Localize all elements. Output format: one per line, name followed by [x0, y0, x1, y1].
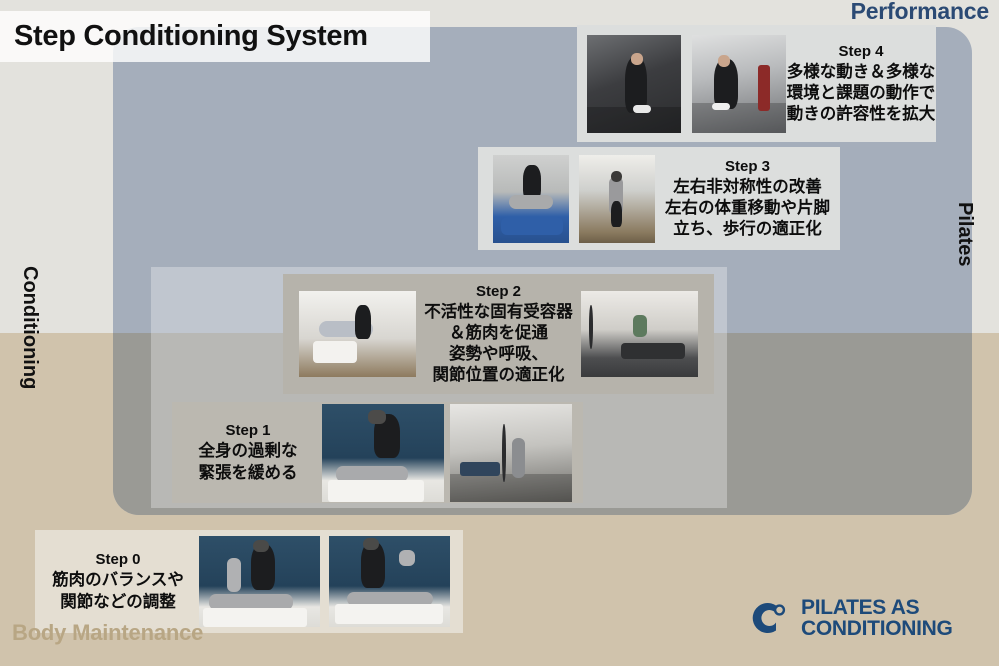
step0-name: Step 0 [37, 550, 199, 569]
step1-name: Step 1 [178, 421, 318, 440]
step3-desc-line-1: 左右非対称性の改善 [655, 177, 840, 198]
step0-desc-line-2: 関節などの調整 [37, 592, 199, 613]
step4-desc-line-3: 動きの許容性を拡大 [786, 104, 936, 125]
step3-desc-line-3: 立ち、歩行の適正化 [655, 219, 840, 240]
step2-name: Step 2 [416, 282, 581, 301]
step1-desc-line-1: 全身の過剰な [178, 441, 318, 462]
slide-title-bar: Step Conditioning System [0, 11, 430, 62]
brand-line-2: CONDITIONING [801, 618, 953, 639]
step2-desc-line-2: ＆筋肉を促通 [416, 323, 581, 344]
step-card-step4[interactable]: Step 4 多様な動き＆多様な 環境と課題の動作で 動きの許容性を拡大 [577, 25, 936, 142]
step4-name: Step 4 [786, 42, 936, 61]
step4-photo-2 [692, 35, 786, 133]
step2-text: Step 2 不活性な固有受容器 ＆筋肉を促通 姿勢や呼吸、 関節位置の適正化 [416, 282, 581, 387]
step0-photo-2 [329, 536, 450, 627]
step0-photo-1 [199, 536, 320, 627]
step2-photo-1 [299, 291, 416, 377]
axis-label-pilates: Pilates [953, 202, 976, 266]
step0-desc-line-1: 筋肉のバランスや [37, 570, 199, 591]
step3-text: Step 3 左右非対称性の改善 左右の体重移動や片脚 立ち、歩行の適正化 [655, 157, 840, 241]
slide-canvas: Step 4 多様な動き＆多様な 環境と課題の動作で 動きの許容性を拡大 Ste… [0, 0, 999, 666]
brand-line-1: PILATES AS [801, 597, 953, 618]
zone-label-performance: Performance [851, 0, 989, 25]
step-card-step2[interactable]: Step 2 不活性な固有受容器 ＆筋肉を促通 姿勢や呼吸、 関節位置の適正化 [283, 274, 714, 394]
axis-label-conditioning: Conditioning [18, 266, 41, 389]
step2-photo-2 [581, 291, 698, 377]
step4-desc-line-2: 環境と課題の動作で [786, 83, 936, 104]
step2-desc-line-1: 不活性な固有受容器 [416, 302, 581, 323]
step4-photo-1 [587, 35, 681, 133]
step4-desc-line-1: 多様な動き＆多様な [786, 62, 936, 83]
step-card-step0[interactable]: Step 0 筋肉のバランスや 関節などの調整 [35, 530, 463, 633]
step3-photo-2 [579, 155, 655, 243]
step3-desc-line-2: 左右の体重移動や片脚 [655, 198, 840, 219]
step3-name: Step 3 [655, 157, 840, 176]
step1-desc-line-2: 緊張を緩める [178, 463, 318, 484]
step2-desc-line-4: 関節位置の適正化 [416, 365, 581, 386]
step1-text: Step 1 全身の過剰な 緊張を緩める [178, 421, 318, 483]
step3-photo-1 [493, 155, 569, 243]
step4-text: Step 4 多様な動き＆多様な 環境と課題の動作で 動きの許容性を拡大 [786, 42, 936, 126]
step1-photo-1 [322, 404, 444, 502]
step0-text: Step 0 筋肉のバランスや 関節などの調整 [37, 550, 199, 612]
step3-photos [493, 155, 655, 243]
step1-photo-2 [450, 404, 572, 502]
step-card-step1[interactable]: Step 1 全身の過剰な 緊張を緩める [172, 402, 583, 503]
zone-label-body-maintenance: Body Maintenance [12, 620, 203, 646]
step4-photos [587, 35, 786, 133]
step-card-step3[interactable]: Step 3 左右非対称性の改善 左右の体重移動や片脚 立ち、歩行の適正化 [478, 147, 840, 250]
pilates-as-conditioning-logo-icon [742, 594, 790, 642]
step2-desc-line-3: 姿勢や呼吸、 [416, 344, 581, 365]
brand-logo: PILATES AS CONDITIONING [742, 594, 953, 642]
step1-photos [322, 404, 572, 502]
step0-photos [199, 536, 450, 627]
page-title: Step Conditioning System [0, 20, 368, 53]
